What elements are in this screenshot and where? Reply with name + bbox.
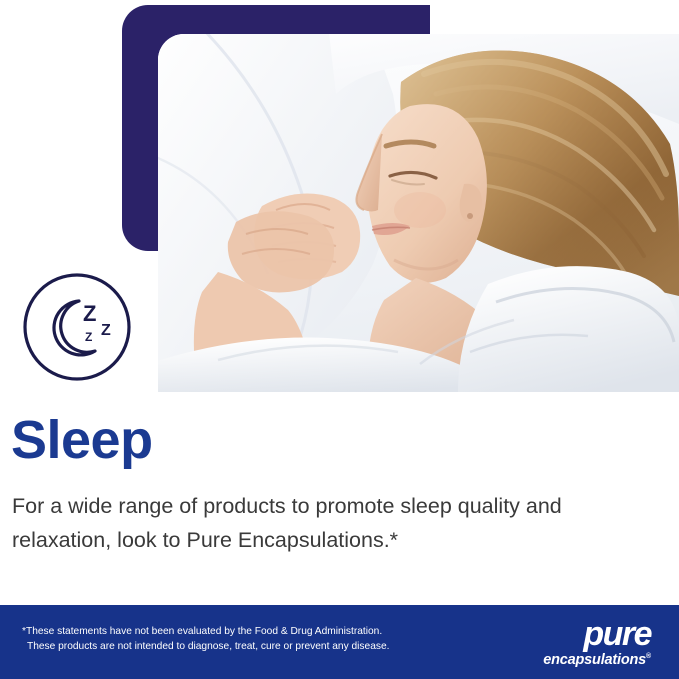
- zzz-small: Z: [85, 330, 92, 344]
- page-title: Sleep: [11, 413, 153, 467]
- sleeping-woman-illustration: [158, 34, 679, 392]
- disclaimer-line-1: *These statements have not been evaluate…: [22, 626, 382, 637]
- hero-photo: [158, 34, 679, 392]
- disclaimer-line-2: These products are not intended to diagn…: [22, 639, 462, 654]
- registered-trademark-icon: ®: [646, 653, 651, 660]
- moon-zzz-icon-svg: Z Z Z: [21, 271, 133, 383]
- zzz-medium: Z: [101, 322, 111, 339]
- body-copy: For a wide range of products to promote …: [12, 489, 652, 557]
- product-banner: Z Z Z Sleep For a wide range of products…: [0, 0, 679, 679]
- zzz-large: Z: [83, 301, 96, 326]
- pure-encapsulations-logo: pure encapsulations®: [501, 619, 651, 667]
- brand-subword: encapsulations®: [501, 649, 651, 668]
- disclaimer-text: *These statements have not been evaluate…: [22, 624, 462, 654]
- footer-bar: *These statements have not been evaluate…: [0, 605, 679, 679]
- moon-zzz-icon: Z Z Z: [21, 271, 133, 383]
- brand-wordmark: pure: [501, 619, 651, 649]
- brand-subword-text: encapsulations: [543, 652, 646, 668]
